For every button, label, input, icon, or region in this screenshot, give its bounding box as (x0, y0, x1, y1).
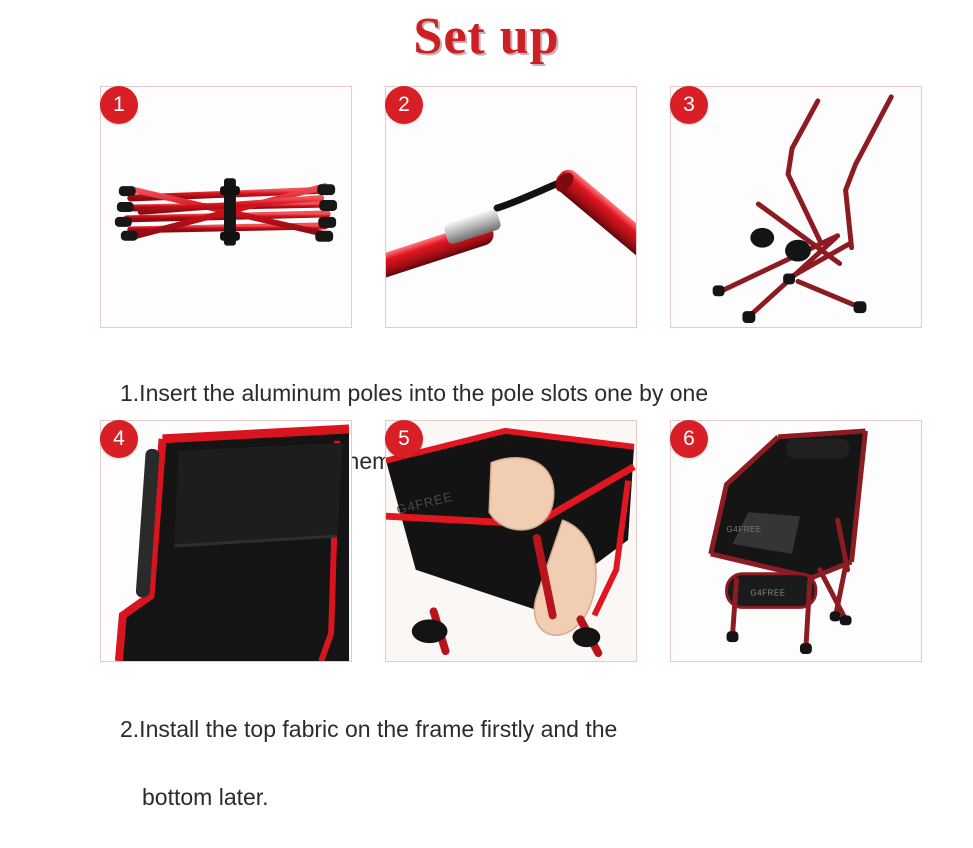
instruction-2-line-1: 2.Install the top fabric on the frame fi… (120, 712, 920, 746)
step-panel-2: 2 (385, 86, 637, 328)
step-badge-6: 6 (670, 420, 708, 458)
step-image-4 (101, 421, 351, 661)
step-badge-4: 4 (100, 420, 138, 458)
step-image-1 (101, 87, 351, 327)
step-image-2 (386, 87, 636, 327)
step-badge-3: 3 (670, 86, 708, 124)
instruction-1-line-1: 1.Insert the aluminum poles into the pol… (120, 376, 920, 410)
page-title: Set up (0, 6, 973, 68)
pole-joint-closeup-illustration (386, 87, 636, 327)
step-panel-4: 4 (100, 420, 352, 662)
brand-logo-text-panel6-seat: G4FREE (727, 525, 762, 534)
step-badge-1: 1 (100, 86, 138, 124)
step-image-3 (671, 87, 921, 327)
attaching-fabric-illustration: G4FREE (386, 421, 636, 661)
brand-logo-text-carry-bag: G4FREE (750, 589, 785, 598)
folded-pole-bundle-illustration (101, 87, 351, 327)
step-image-5: G4FREE (386, 421, 636, 661)
step-panel-1: 1 (100, 86, 352, 328)
step-badge-2: 2 (385, 86, 423, 124)
instruction-2-line-2: bottom later. (120, 780, 920, 814)
setup-instruction-page: { "page": { "title": "Set up", "backgrou… (0, 0, 973, 767)
step-panel-6: G4FREE G4FREE 6 (670, 420, 922, 662)
step-panel-3: 3 (670, 86, 922, 328)
step-badge-5: 5 (385, 420, 423, 458)
fabric-closeup-illustration (101, 421, 351, 661)
step-image-6: G4FREE G4FREE (671, 421, 921, 661)
step-panel-5: G4FREE 5 (385, 420, 637, 662)
finished-chair-illustration: G4FREE G4FREE (671, 421, 921, 661)
instruction-step-2: 2.Install the top fabric on the frame fi… (120, 678, 920, 848)
assembled-frame-illustration (671, 87, 921, 327)
